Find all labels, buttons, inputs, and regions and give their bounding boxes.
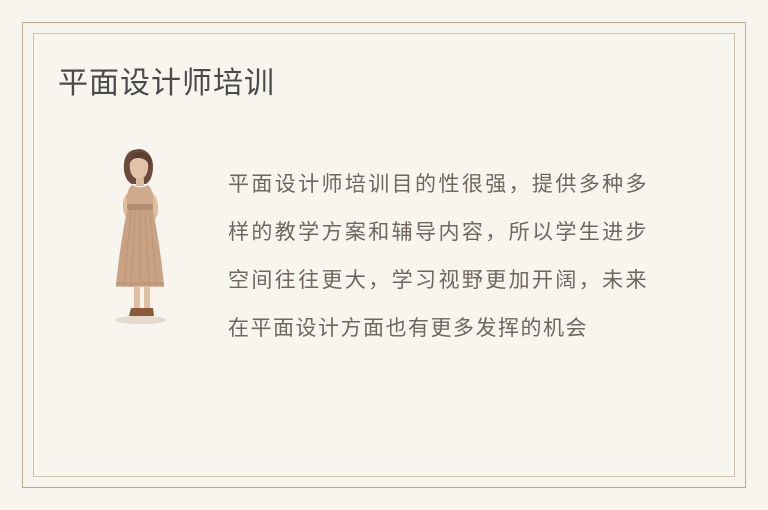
page-title: 平面设计师培训 [58,64,275,104]
woman-in-pleated-dress-photo [96,140,188,330]
poster-card: 平面设计师培训 [0,0,768,510]
body-paragraph: 平面设计师培训目的性很强，提供多种多样的教学方案和辅导内容，所以学生进步空间往往… [228,160,648,352]
